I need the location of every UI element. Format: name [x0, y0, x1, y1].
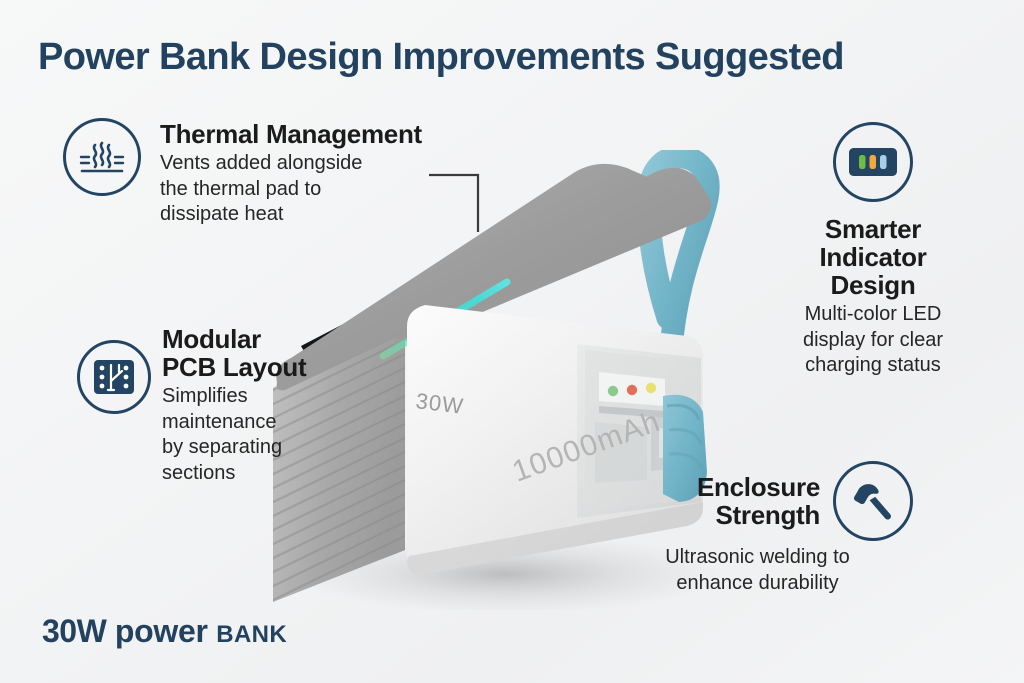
infographic-canvas: Power Bank Design Improvements Suggested	[0, 0, 1024, 683]
callout-body-line: sections	[162, 461, 402, 487]
callout-heading-line: Enclosure	[570, 473, 820, 501]
callout-heading-line: Strength	[570, 501, 820, 529]
callout-body-line: the thermal pad to	[160, 177, 520, 203]
callout-heading-line: PCB Layout	[162, 353, 402, 381]
callout-heading-line: Indicator	[755, 243, 991, 271]
led-indicator-icon-circle	[833, 122, 913, 202]
callout-enclosure-strength-body: Ultrasonic welding to enhance durability	[560, 545, 955, 596]
callout-heading: Smarter Indicator Design	[755, 215, 991, 299]
callout-enclosure-strength: Enclosure Strength	[570, 473, 820, 529]
heat-waves-icon-circle	[63, 118, 141, 196]
circuit-board-icon	[92, 357, 136, 397]
caption-bank: BANK	[216, 621, 287, 648]
callout-body: Simplifies maintenance by separating sec…	[162, 384, 402, 486]
hammer-icon	[850, 478, 896, 524]
callout-body-line: Vents added alongside	[160, 151, 520, 177]
callout-body-line: Simplifies	[162, 384, 402, 410]
callout-body-line: display for clear	[755, 328, 991, 354]
led-indicator-icon	[848, 145, 898, 179]
callout-heading-line: Modular	[162, 325, 402, 353]
product-caption: 30W power BANK	[42, 613, 287, 650]
callout-heading-line: Design	[755, 271, 991, 299]
callout-thermal-management: Thermal Management Vents added alongside…	[160, 120, 520, 228]
callout-heading: Modular PCB Layout	[162, 325, 402, 381]
callout-heading-line: Smarter	[755, 215, 991, 243]
circuit-board-icon-circle	[77, 340, 151, 414]
heat-waves-icon	[78, 135, 126, 179]
callout-smarter-indicator-design: Smarter Indicator Design Multi-color LED…	[755, 215, 991, 379]
hammer-icon-circle	[833, 461, 913, 541]
page-title: Power Bank Design Improvements Suggested	[38, 36, 844, 79]
callout-body: Ultrasonic welding to enhance durability	[560, 545, 955, 596]
callout-body-line: by separating	[162, 435, 402, 461]
callout-heading: Thermal Management	[160, 120, 520, 148]
callout-body-line: Ultrasonic welding to	[560, 545, 955, 571]
callout-body-line: maintenance	[162, 410, 402, 436]
caption-power: power	[106, 613, 216, 649]
callout-heading: Enclosure Strength	[570, 473, 820, 529]
callout-body-line: Multi-color LED	[755, 302, 991, 328]
callout-body: Vents added alongside the thermal pad to…	[160, 151, 520, 228]
callout-body-line: charging status	[755, 353, 991, 379]
callout-body-line: enhance durability	[560, 571, 955, 597]
device-front-face: 30W 10000mAh	[407, 305, 703, 575]
callout-body-line: dissipate heat	[160, 202, 520, 228]
callout-modular-pcb-layout: Modular PCB Layout Simplifies maintenanc…	[162, 325, 402, 487]
caption-watts: 30W	[42, 613, 106, 649]
callout-body: Multi-color LED display for clear chargi…	[755, 302, 991, 379]
